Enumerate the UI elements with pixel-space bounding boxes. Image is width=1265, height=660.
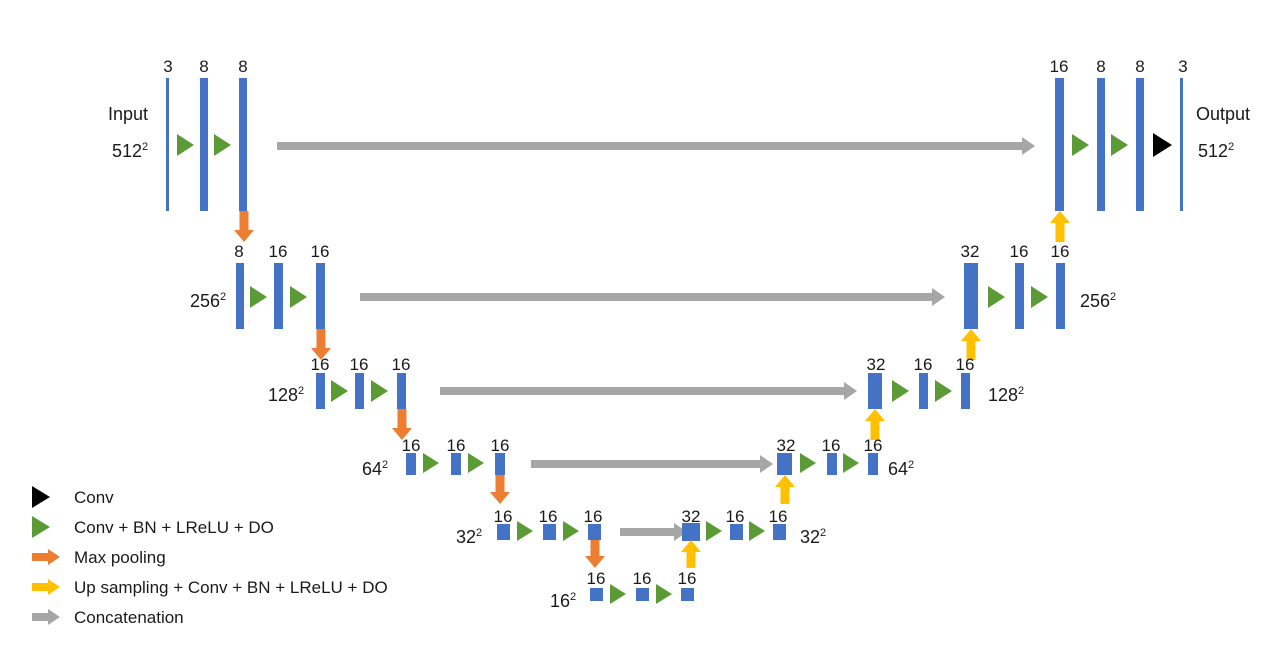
feature-bar xyxy=(868,373,882,409)
input-size-label: 5122 xyxy=(112,138,148,160)
channel-label: 16 xyxy=(672,570,702,587)
conv-bn-lrelu-do-icon xyxy=(214,134,231,156)
channel-label: 16 xyxy=(763,508,793,525)
output-label: Output xyxy=(1196,105,1250,123)
conv-bn-lrelu-do-icon xyxy=(610,584,626,604)
max-pooling-arrow xyxy=(490,475,510,504)
channel-label: 32 xyxy=(771,437,801,454)
feature-bar xyxy=(777,453,792,475)
channel-label: 16 xyxy=(908,356,938,373)
channel-label: 16 xyxy=(533,508,563,525)
resolution-label: 1282 xyxy=(988,382,1024,404)
conv-icon xyxy=(1153,133,1172,157)
max-pooling-icon xyxy=(30,545,70,569)
max-pooling-arrow xyxy=(234,211,254,242)
channel-label: 16 xyxy=(858,437,888,454)
concatenation-arrow xyxy=(440,382,857,400)
conv-bn-lrelu-do-icon xyxy=(371,380,388,402)
legend: Conv Conv + BN + LReLU + DO Max pooling … xyxy=(30,482,388,632)
resolution-label: 322 xyxy=(800,524,826,546)
conv-bn-lrelu-do-icon xyxy=(656,584,672,604)
conv-bn-lrelu-do-icon xyxy=(1031,286,1048,308)
feature-bar xyxy=(316,373,325,409)
channel-label: 8 xyxy=(189,58,219,75)
conv-bn-lrelu-do-icon xyxy=(988,286,1005,308)
feature-bar xyxy=(200,78,208,211)
feature-bar xyxy=(1015,263,1024,329)
resolution-label: 162 xyxy=(550,588,576,610)
channel-label: 16 xyxy=(720,508,750,525)
resolution-label: 1282 xyxy=(268,382,304,404)
legend-label: Conv + BN + LReLU + DO xyxy=(70,519,274,536)
channel-label: 32 xyxy=(955,243,985,260)
feature-bar xyxy=(1180,78,1183,211)
feature-bar xyxy=(543,524,556,540)
concatenation-icon xyxy=(30,605,70,629)
resolution-label: 642 xyxy=(888,456,914,478)
unet-diagram-canvas: 3 8 8 Input 5122 16 8 8 3 Output 5122 8 … xyxy=(0,0,1265,660)
feature-bar xyxy=(397,373,406,409)
resolution-label: 2562 xyxy=(1080,288,1116,310)
legend-label: Conv xyxy=(70,489,114,506)
conv-bn-lrelu-do-icon xyxy=(517,521,533,541)
up-sampling-arrow xyxy=(775,475,795,504)
conv-bn-lrelu-do-icon xyxy=(423,453,439,473)
conv-bn-lrelu-do-icon xyxy=(706,521,722,541)
feature-bar xyxy=(868,453,878,475)
conv-bn-lrelu-do-icon xyxy=(800,453,816,473)
input-label: Input xyxy=(108,105,148,123)
conv-bn-lrelu-do-icon xyxy=(749,521,765,541)
conv-bn-lrelu-do-icon xyxy=(331,380,348,402)
channel-label: 16 xyxy=(344,356,374,373)
channel-label: 8 xyxy=(228,58,258,75)
feature-bar xyxy=(355,373,364,409)
conv-bn-lrelu-do-icon xyxy=(892,380,909,402)
conv-icon xyxy=(30,485,70,509)
feature-bar xyxy=(961,373,970,409)
feature-bar xyxy=(166,78,169,211)
channel-label: 8 xyxy=(1125,58,1155,75)
legend-item-max-pooling: Max pooling xyxy=(30,542,388,572)
legend-item-concatenation: Concatenation xyxy=(30,602,388,632)
channel-label: 16 xyxy=(305,356,335,373)
max-pooling-arrow xyxy=(585,540,605,568)
legend-item-conv: Conv xyxy=(30,482,388,512)
feature-bar xyxy=(236,263,244,329)
feature-bar xyxy=(1056,263,1065,329)
conv-bn-lrelu-do-icon xyxy=(468,453,484,473)
legend-label: Concatenation xyxy=(70,609,184,626)
up-sampling-icon xyxy=(30,575,70,599)
channel-label: 16 xyxy=(488,508,518,525)
feature-bar xyxy=(239,78,247,211)
channel-label: 32 xyxy=(861,356,891,373)
feature-bar xyxy=(495,453,505,475)
feature-bar xyxy=(1097,78,1105,211)
conv-bn-lrelu-do-icon xyxy=(1111,134,1128,156)
conv-bn-lrelu-do-icon xyxy=(290,286,307,308)
feature-bar xyxy=(274,263,283,329)
concatenation-arrow xyxy=(531,455,773,473)
conv-bn-lrelu-do-icon xyxy=(1072,134,1089,156)
conv-bn-lrelu-do-icon xyxy=(30,515,70,539)
feature-bar xyxy=(590,588,603,601)
conv-bn-lrelu-do-icon xyxy=(177,134,194,156)
feature-bar xyxy=(636,588,649,601)
output-size-label: 5122 xyxy=(1198,138,1234,160)
legend-label: Max pooling xyxy=(70,549,166,566)
feature-bar xyxy=(919,373,928,409)
conv-bn-lrelu-do-icon xyxy=(563,521,579,541)
channel-label: 8 xyxy=(224,243,254,260)
channel-label: 16 xyxy=(1004,243,1034,260)
channel-label: 16 xyxy=(441,437,471,454)
up-sampling-arrow xyxy=(681,540,701,568)
legend-item-conv-bn-lrelu-do: Conv + BN + LReLU + DO xyxy=(30,512,388,542)
feature-bar xyxy=(1136,78,1144,211)
feature-bar xyxy=(588,524,601,540)
legend-label: Up sampling + Conv + BN + LReLU + DO xyxy=(70,579,388,596)
channel-label: 8 xyxy=(1086,58,1116,75)
conv-bn-lrelu-do-icon xyxy=(250,286,267,308)
channel-label: 16 xyxy=(1044,58,1074,75)
feature-bar xyxy=(451,453,461,475)
up-sampling-arrow xyxy=(1050,211,1070,242)
channel-label: 16 xyxy=(816,437,846,454)
channel-label: 16 xyxy=(386,356,416,373)
feature-bar xyxy=(773,524,786,540)
feature-bar xyxy=(681,588,694,601)
feature-bar xyxy=(316,263,325,329)
channel-label: 16 xyxy=(950,356,980,373)
legend-item-up-sampling: Up sampling + Conv + BN + LReLU + DO xyxy=(30,572,388,602)
concatenation-arrow xyxy=(360,288,945,306)
feature-bar xyxy=(827,453,837,475)
concatenation-arrow xyxy=(620,523,686,541)
feature-bar xyxy=(964,263,978,329)
channel-label: 16 xyxy=(485,437,515,454)
channel-label: 16 xyxy=(305,243,335,260)
channel-label: 16 xyxy=(581,570,611,587)
channel-label: 16 xyxy=(396,437,426,454)
resolution-label: 322 xyxy=(456,524,482,546)
feature-bar xyxy=(497,524,510,540)
channel-label: 16 xyxy=(1045,243,1075,260)
channel-label: 16 xyxy=(627,570,657,587)
resolution-label: 2562 xyxy=(190,288,226,310)
feature-bar xyxy=(406,453,416,475)
conv-bn-lrelu-do-icon xyxy=(935,380,952,402)
feature-bar xyxy=(1055,78,1064,211)
channel-label: 16 xyxy=(578,508,608,525)
conv-bn-lrelu-do-icon xyxy=(843,453,859,473)
channel-label: 16 xyxy=(263,243,293,260)
feature-bar xyxy=(730,524,743,540)
feature-bar xyxy=(682,523,700,541)
channel-label: 3 xyxy=(153,58,183,75)
concatenation-arrow xyxy=(277,137,1035,155)
channel-label: 3 xyxy=(1168,58,1198,75)
resolution-label: 642 xyxy=(362,456,388,478)
